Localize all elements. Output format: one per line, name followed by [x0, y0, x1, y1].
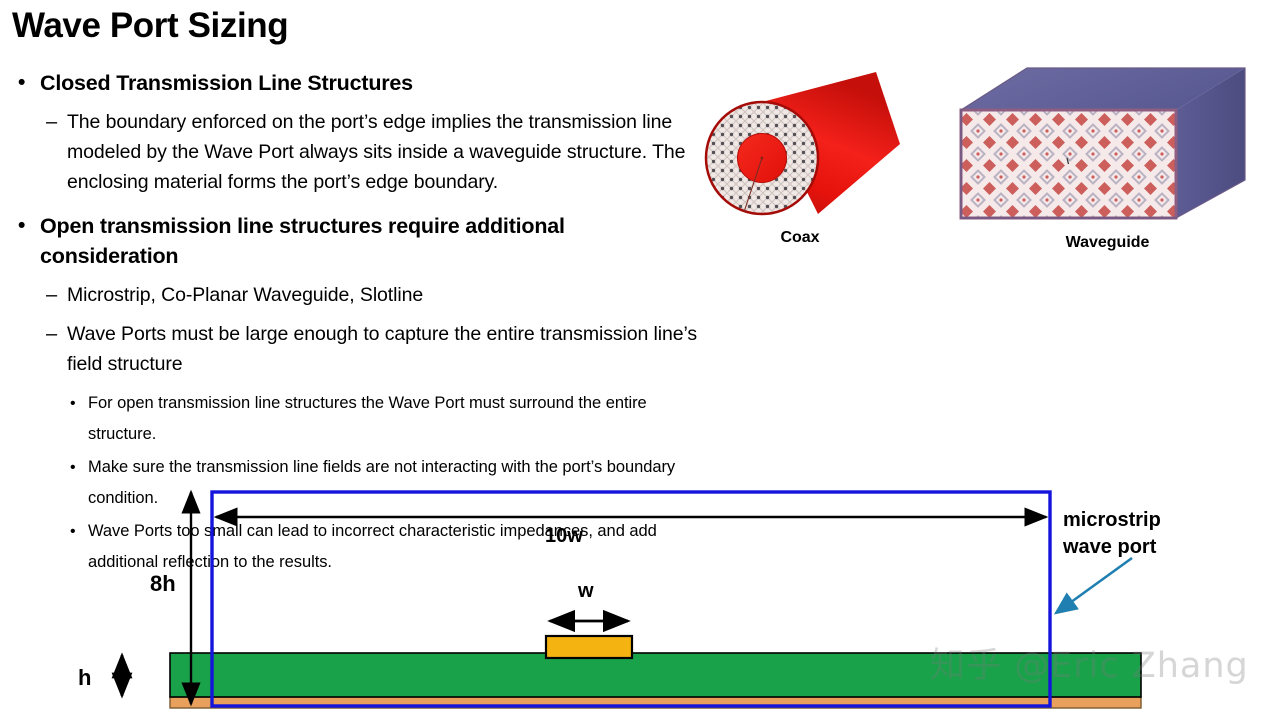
- bullet-text: Microstrip, Co-Planar Waveguide, Slotlin…: [67, 280, 700, 310]
- bullet-level1: • Open transmission line structures requ…: [0, 211, 700, 271]
- dash-marker-icon: –: [46, 280, 57, 310]
- spacer: [0, 381, 700, 388]
- bullet-level2: – Microstrip, Co-Planar Waveguide, Slotl…: [0, 280, 700, 310]
- microstrip-trace: [546, 636, 632, 658]
- bullet-marker-icon: •: [18, 68, 25, 98]
- dash-marker-icon: –: [46, 107, 57, 137]
- dielectric-substrate: [170, 653, 1141, 697]
- wave-port-annotation-line1: microstrip: [1063, 507, 1161, 534]
- coax-caption: Coax: [700, 229, 900, 247]
- annotation-arrow-wave-port: [1056, 558, 1132, 613]
- dash-marker-icon: –: [46, 319, 57, 349]
- coax-cable-illustration: [700, 58, 900, 258]
- dimension-label-w: w: [578, 580, 594, 603]
- bullet-marker-icon: •: [18, 211, 25, 241]
- bullet-level1: • Closed Transmission Line Structures: [0, 68, 700, 98]
- dimension-label-10w: 10w: [545, 525, 583, 548]
- bullet-text: For open transmission line structures th…: [88, 388, 700, 450]
- bullet-level3: • For open transmission line structures …: [0, 388, 700, 450]
- wave-port-annotation: microstrip wave port: [1063, 507, 1161, 561]
- bullet-level2: – The boundary enforced on the port’s ed…: [0, 107, 700, 197]
- dimension-label-8h: 8h: [150, 571, 176, 597]
- waveguide-caption: Waveguide: [955, 234, 1260, 252]
- coax-center-dot: [761, 157, 764, 160]
- bullet-text: Open transmission line structures requir…: [40, 211, 700, 271]
- slide-canvas: Wave Port Sizing • Closed Transmission L…: [0, 0, 1265, 715]
- spacer: [0, 199, 700, 211]
- spacer: [0, 100, 700, 107]
- dimension-label-h: h: [78, 665, 91, 691]
- bullet-text: Wave Ports must be large enough to captu…: [67, 319, 700, 379]
- spacer: [0, 312, 700, 319]
- spacer: [0, 273, 700, 280]
- bullet-text: Closed Transmission Line Structures: [40, 68, 700, 98]
- bullet-text: The boundary enforced on the port’s edge…: [67, 107, 700, 197]
- wave-port-annotation-line2: wave port: [1063, 534, 1161, 561]
- waveguide-illustration: [955, 62, 1260, 227]
- page-title: Wave Port Sizing: [12, 4, 288, 48]
- bullet-level2: – Wave Ports must be large enough to cap…: [0, 319, 700, 379]
- bullet-marker-icon: •: [70, 388, 76, 419]
